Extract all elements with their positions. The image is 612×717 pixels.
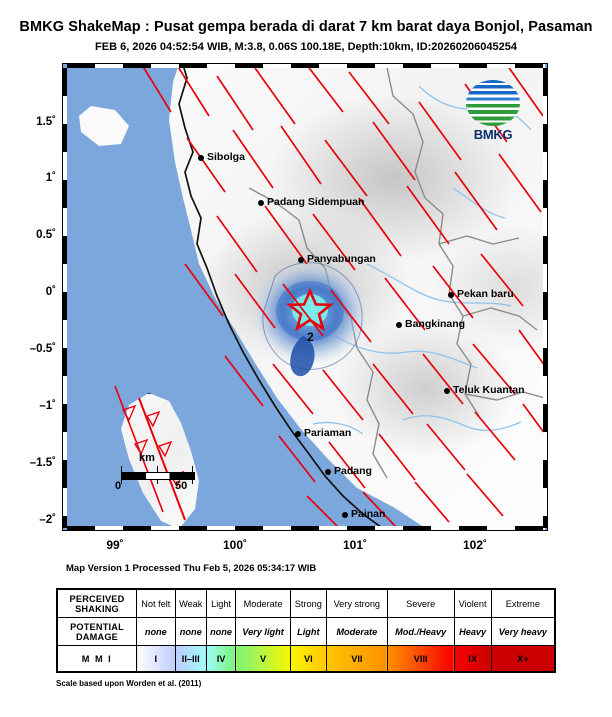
- legend-damage-3: none: [206, 618, 235, 646]
- city-dot-sibolga: [198, 155, 204, 161]
- map-version-note: Map Version 1 Processed Thu Feb 5, 2026 …: [66, 563, 316, 574]
- city-label-panyabungan: Panyabungan: [307, 253, 376, 265]
- legend-mmi-3: IV: [206, 646, 235, 673]
- y-axis-label-6: –1˚: [12, 400, 56, 412]
- legend-footnote: Scale based upon Worden et al. (2011): [56, 679, 201, 688]
- legend-shaking-6: Very strong: [326, 589, 387, 618]
- map-frame-tick-right: [543, 68, 547, 528]
- legend-mmi-7: VIII: [387, 646, 454, 673]
- legend-damage-2: none: [175, 618, 206, 646]
- map-frame-tick-left: [63, 68, 67, 528]
- city-label-pekan-baru: Pekan baru: [457, 288, 514, 300]
- legend-shaking-9: Extreme: [491, 589, 555, 618]
- x-axis-label-1: 99˚: [85, 538, 145, 552]
- city-label-painan: Painan: [351, 508, 385, 520]
- legend-damage-7: Mod./Heavy: [387, 618, 454, 646]
- y-axis-label-7: –1.5˚: [12, 457, 56, 469]
- legend-mmi-6: VII: [326, 646, 387, 673]
- legend-damage-4: Very light: [236, 618, 291, 646]
- x-axis-label-3: 101˚: [325, 538, 385, 552]
- city-dot-bangkinang: [396, 322, 402, 328]
- city-dot-pariaman: [295, 431, 301, 437]
- bmkg-logo-text: BMKG: [457, 127, 529, 142]
- city-dot-panyabungan: [298, 257, 304, 263]
- legend-mmi-5: VI: [290, 646, 326, 673]
- legend-row-perceived-shaking: PERCEIVED SHAKING Not felt Weak Light Mo…: [57, 589, 555, 618]
- legend-shaking-4: Moderate: [236, 589, 291, 618]
- legend-damage-1: none: [137, 618, 176, 646]
- city-dot-teluk-kuantan: [444, 388, 450, 394]
- city-label-sibolga: Sibolga: [207, 151, 245, 163]
- map-frame-tick-bottom: [67, 526, 545, 530]
- city-dot-painan: [342, 512, 348, 518]
- mmi-contour-label: 2: [307, 330, 314, 344]
- shakemap-map[interactable]: 2 Sibolga Padang Sidempuan Panyabungan P…: [62, 63, 548, 531]
- scale-bar-graphic: [121, 472, 195, 480]
- scale-min-label: 0: [115, 480, 121, 492]
- legend-shaking-8: Violent: [454, 589, 491, 618]
- legend-mmi-8: IX: [454, 646, 491, 673]
- legend-shaking-3: Light: [206, 589, 235, 618]
- header: BMKG ShakeMap : Pusat gempa berada di da…: [0, 0, 612, 54]
- page-title: BMKG ShakeMap : Pusat gempa berada di da…: [0, 18, 612, 36]
- y-axis-label-5: –0.5˚: [12, 343, 56, 355]
- y-axis-label-2: 1˚: [12, 172, 56, 184]
- scale-max-label: 50: [175, 480, 187, 492]
- city-label-padang-sidempuan: Padang Sidempuan: [267, 196, 364, 208]
- legend-shaking-7: Severe: [387, 589, 454, 618]
- intensity-legend-table: PERCEIVED SHAKING Not felt Weak Light Mo…: [56, 588, 556, 673]
- bmkg-disc-icon: [466, 80, 520, 126]
- x-axis-label-4: 102˚: [445, 538, 505, 552]
- map-canvas[interactable]: 2 Sibolga Padang Sidempuan Panyabungan P…: [67, 68, 543, 526]
- city-label-pariaman: Pariaman: [304, 427, 351, 439]
- legend-row-mmi: M M I I II–III IV V VI VII VIII IX X+: [57, 646, 555, 673]
- legend-damage-8: Heavy: [454, 618, 491, 646]
- y-axis-label-3: 0.5˚: [12, 229, 56, 241]
- legend-damage-9: Very heavy: [491, 618, 555, 646]
- y-axis-label-8: –2˚: [12, 514, 56, 526]
- city-dot-pekan-baru: [448, 292, 454, 298]
- legend-mmi-4: V: [236, 646, 291, 673]
- event-subtitle: FEB 6, 2026 04:52:54 WIB, M:3.8, 0.06S 1…: [0, 40, 612, 54]
- map-frame: 2 Sibolga Padang Sidempuan Panyabungan P…: [62, 63, 548, 531]
- city-label-padang: Padang: [334, 465, 372, 477]
- city-dot-padang: [325, 469, 331, 475]
- scale-bar: km 0 50: [115, 454, 205, 494]
- legend-damage-5: Light: [290, 618, 326, 646]
- map-frame-tick-top: [67, 64, 545, 68]
- legend-header-mmi: M M I: [57, 646, 137, 673]
- legend-mmi-9: X+: [491, 646, 555, 673]
- y-axis-label-1: 1.5˚: [12, 116, 56, 128]
- legend-damage-6: Moderate: [326, 618, 387, 646]
- bmkg-logo: BMKG: [457, 80, 529, 146]
- legend-shaking-5: Strong: [290, 589, 326, 618]
- city-dot-padang-sidempuan: [258, 200, 264, 206]
- scale-unit-label: km: [139, 452, 155, 464]
- legend-header-potential-damage: POTENTIAL DAMAGE: [57, 618, 137, 646]
- legend-mmi-2: II–III: [175, 646, 206, 673]
- y-axis-label-4: 0˚: [12, 286, 56, 298]
- legend-row-potential-damage: POTENTIAL DAMAGE none none none Very lig…: [57, 618, 555, 646]
- legend-mmi-1: I: [137, 646, 176, 673]
- legend-header-perceived-shaking: PERCEIVED SHAKING: [57, 589, 137, 618]
- legend-shaking-2: Weak: [175, 589, 206, 618]
- city-label-teluk-kuantan: Teluk Kuantan: [453, 384, 525, 396]
- legend-shaking-1: Not felt: [137, 589, 176, 618]
- x-axis-label-2: 100˚: [205, 538, 265, 552]
- city-label-bangkinang: Bangkinang: [405, 318, 465, 330]
